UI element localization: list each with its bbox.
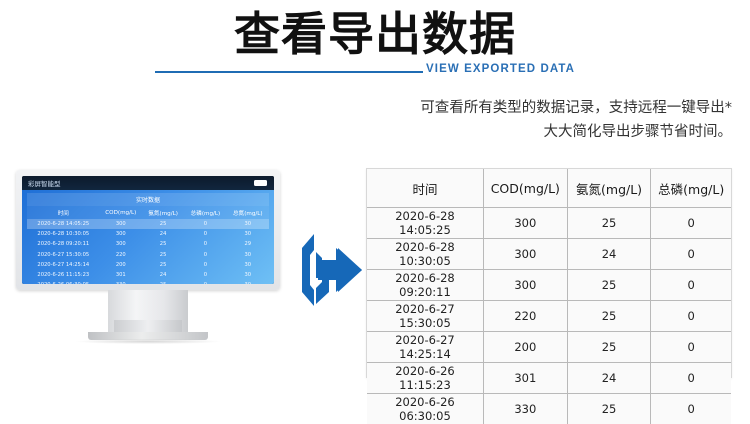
cell-cod: 220 bbox=[483, 301, 567, 332]
cell-tn: 30 bbox=[227, 270, 269, 280]
realtime-data-caption: 实时数据 bbox=[27, 193, 269, 206]
cell-cod: 300 bbox=[100, 229, 142, 239]
export-table-header-row: 时间 COD(mg/L) 氨氮(mg/L) 总磷(mg/L) bbox=[367, 169, 731, 208]
monitor-table-row[interactable]: 2020-6-27 15:30:05 220 25 0 30 bbox=[27, 250, 269, 260]
cell-tn: 30 bbox=[227, 260, 269, 270]
header-divider-rule bbox=[155, 71, 423, 73]
cell-tp: 0 bbox=[651, 208, 731, 239]
table-row[interactable]: 2020-6-26 11:15:23 301 24 0 bbox=[367, 363, 731, 394]
cell-time: 2020-6-28 14:05:25 bbox=[367, 208, 483, 239]
export-col-nh3n: 氨氮(mg/L) bbox=[567, 169, 651, 208]
monitor-table-row[interactable]: 2020-6-26 11:15:23 301 24 0 30 bbox=[27, 270, 269, 280]
cell-nh3n: 25 bbox=[142, 219, 184, 229]
cell-tp: 0 bbox=[184, 280, 226, 284]
cell-tp: 0 bbox=[184, 270, 226, 280]
monitor-screen: 彩屏智能型 实时数据 时间 COD(mg/L) 氨氮(mg/L) 总磷(mg/L… bbox=[22, 176, 274, 284]
table-row[interactable]: 2020-6-28 14:05:25 300 25 0 bbox=[367, 208, 731, 239]
monitor-col-tn: 总氮(mg/L) bbox=[227, 206, 269, 219]
monitor-col-tp: 总磷(mg/L) bbox=[184, 206, 226, 219]
cell-tp: 0 bbox=[184, 250, 226, 260]
cell-nh3n: 24 bbox=[142, 229, 184, 239]
monitor-table-row[interactable]: 2020-6-28 14:05:25 300 25 0 30 bbox=[27, 219, 269, 229]
monitor-table-body: 2020-6-28 14:05:25 300 25 0 30 2020-6-28… bbox=[27, 219, 269, 284]
cell-time: 2020-6-27 15:30:05 bbox=[367, 301, 483, 332]
cell-time: 2020-6-28 10:30:05 bbox=[367, 239, 483, 270]
cell-time: 2020-6-26 11:15:23 bbox=[27, 270, 100, 280]
exported-data-table: 时间 COD(mg/L) 氨氮(mg/L) 总磷(mg/L) 2020-6-28… bbox=[367, 169, 731, 424]
cell-nh3n: 25 bbox=[567, 208, 651, 239]
monitor-table-row[interactable]: 2020-6-26 06:30:05 330 25 0 30 bbox=[27, 280, 269, 284]
page-title: 查看导出数据 bbox=[0, 8, 750, 60]
cell-tp: 0 bbox=[651, 270, 731, 301]
table-row[interactable]: 2020-6-28 09:20:11 300 25 0 bbox=[367, 270, 731, 301]
cell-nh3n: 25 bbox=[142, 239, 184, 249]
cell-tn: 30 bbox=[227, 280, 269, 284]
cell-nh3n: 25 bbox=[567, 270, 651, 301]
cell-time: 2020-6-28 14:05:25 bbox=[27, 219, 100, 229]
cell-cod: 300 bbox=[483, 270, 567, 301]
page-root: 查看导出数据 VIEW EXPORTED DATA 可查看所有类型的数据记录，支… bbox=[0, 0, 750, 415]
cell-nh3n: 24 bbox=[567, 363, 651, 394]
cell-nh3n: 25 bbox=[567, 394, 651, 424]
monitor-table-header-row: 时间 COD(mg/L) 氨氮(mg/L) 总磷(mg/L) 总氮(mg/L) bbox=[27, 206, 269, 219]
monitor-illustration: 彩屏智能型 实时数据 时间 COD(mg/L) 氨氮(mg/L) 总磷(mg/L… bbox=[16, 170, 280, 400]
cell-nh3n: 24 bbox=[567, 239, 651, 270]
cell-time: 2020-6-26 11:15:23 bbox=[367, 363, 483, 394]
cell-tp: 0 bbox=[184, 219, 226, 229]
cell-time: 2020-6-27 14:25:14 bbox=[367, 332, 483, 363]
cell-tp: 0 bbox=[651, 363, 731, 394]
cell-cod: 330 bbox=[483, 394, 567, 424]
lead-line-1: 可查看所有类型的数据记录，支持远程一键导出* bbox=[332, 96, 732, 120]
export-col-time: 时间 bbox=[367, 169, 483, 208]
lead-paragraph: 可查看所有类型的数据记录，支持远程一键导出* 大大简化导出步骤节省时间。 bbox=[332, 96, 732, 144]
monitor-data-table: 时间 COD(mg/L) 氨氮(mg/L) 总磷(mg/L) 总氮(mg/L) … bbox=[27, 206, 269, 284]
monitor-col-time: 时间 bbox=[27, 206, 100, 219]
table-row[interactable]: 2020-6-27 14:25:14 200 25 0 bbox=[367, 332, 731, 363]
cell-tp: 0 bbox=[184, 260, 226, 270]
export-table-body: 2020-6-28 14:05:25 300 25 0 2020-6-28 10… bbox=[367, 208, 731, 424]
cell-time: 2020-6-26 06:30:05 bbox=[27, 280, 100, 284]
cell-cod: 300 bbox=[100, 219, 142, 229]
device-title: 彩屏智能型 bbox=[28, 178, 61, 188]
cell-nh3n: 25 bbox=[142, 280, 184, 284]
cell-nh3n: 25 bbox=[567, 332, 651, 363]
monitor-shadow bbox=[76, 339, 220, 344]
export-col-cod: COD(mg/L) bbox=[483, 169, 567, 208]
cell-tn: 30 bbox=[227, 229, 269, 239]
table-row[interactable]: 2020-6-28 10:30:05 300 24 0 bbox=[367, 239, 731, 270]
cell-cod: 300 bbox=[100, 239, 142, 249]
lead-line-2: 大大简化导出步骤节省时间。 bbox=[332, 120, 732, 144]
cell-nh3n: 25 bbox=[142, 260, 184, 270]
cell-cod: 301 bbox=[483, 363, 567, 394]
exported-data-table-panel: 时间 COD(mg/L) 氨氮(mg/L) 总磷(mg/L) 2020-6-28… bbox=[366, 168, 732, 378]
cell-tp: 0 bbox=[184, 239, 226, 249]
monitor-col-cod: COD(mg/L) bbox=[100, 206, 142, 219]
export-arrow-icon bbox=[292, 232, 364, 308]
cell-cod: 300 bbox=[483, 208, 567, 239]
monitor-col-nh3n: 氨氮(mg/L) bbox=[142, 206, 184, 219]
cell-cod: 200 bbox=[100, 260, 142, 270]
cell-cod: 300 bbox=[483, 239, 567, 270]
page-header: 查看导出数据 VIEW EXPORTED DATA bbox=[0, 0, 750, 90]
table-row[interactable]: 2020-6-26 06:30:05 330 25 0 bbox=[367, 394, 731, 424]
cell-tn: 29 bbox=[227, 239, 269, 249]
cell-time: 2020-6-27 15:30:05 bbox=[27, 250, 100, 260]
cell-tp: 0 bbox=[651, 239, 731, 270]
device-title-bar: 彩屏智能型 bbox=[22, 176, 274, 190]
cell-nh3n: 24 bbox=[142, 270, 184, 280]
cell-tn: 30 bbox=[227, 219, 269, 229]
cell-nh3n: 25 bbox=[567, 301, 651, 332]
monitor-table-row[interactable]: 2020-6-28 09:20:11 300 25 0 29 bbox=[27, 239, 269, 249]
cell-tp: 0 bbox=[184, 229, 226, 239]
cell-time: 2020-6-26 06:30:05 bbox=[367, 394, 483, 424]
table-row[interactable]: 2020-6-27 15:30:05 220 25 0 bbox=[367, 301, 731, 332]
monitor-table-row[interactable]: 2020-6-27 14:25:14 200 25 0 30 bbox=[27, 260, 269, 270]
cell-cod: 200 bbox=[483, 332, 567, 363]
cell-tp: 0 bbox=[651, 332, 731, 363]
monitor-table-row[interactable]: 2020-6-28 10:30:05 300 24 0 30 bbox=[27, 229, 269, 239]
export-col-tp: 总磷(mg/L) bbox=[651, 169, 731, 208]
cell-time: 2020-6-28 09:20:11 bbox=[367, 270, 483, 301]
cell-cod: 301 bbox=[100, 270, 142, 280]
cell-tn: 30 bbox=[227, 250, 269, 260]
cell-time: 2020-6-28 10:30:05 bbox=[27, 229, 100, 239]
cell-tp: 0 bbox=[651, 301, 731, 332]
page-subtitle-en: VIEW EXPORTED DATA bbox=[426, 63, 575, 75]
cell-cod: 330 bbox=[100, 280, 142, 284]
monitor-screen-body: 实时数据 时间 COD(mg/L) 氨氮(mg/L) 总磷(mg/L) 总氮(m… bbox=[22, 190, 274, 284]
cell-nh3n: 25 bbox=[142, 250, 184, 260]
cell-time: 2020-6-28 09:20:11 bbox=[27, 239, 100, 249]
cell-cod: 220 bbox=[100, 250, 142, 260]
cell-time: 2020-6-27 14:25:14 bbox=[27, 260, 100, 270]
status-indicator-icon bbox=[254, 180, 267, 186]
cell-tp: 0 bbox=[651, 394, 731, 424]
